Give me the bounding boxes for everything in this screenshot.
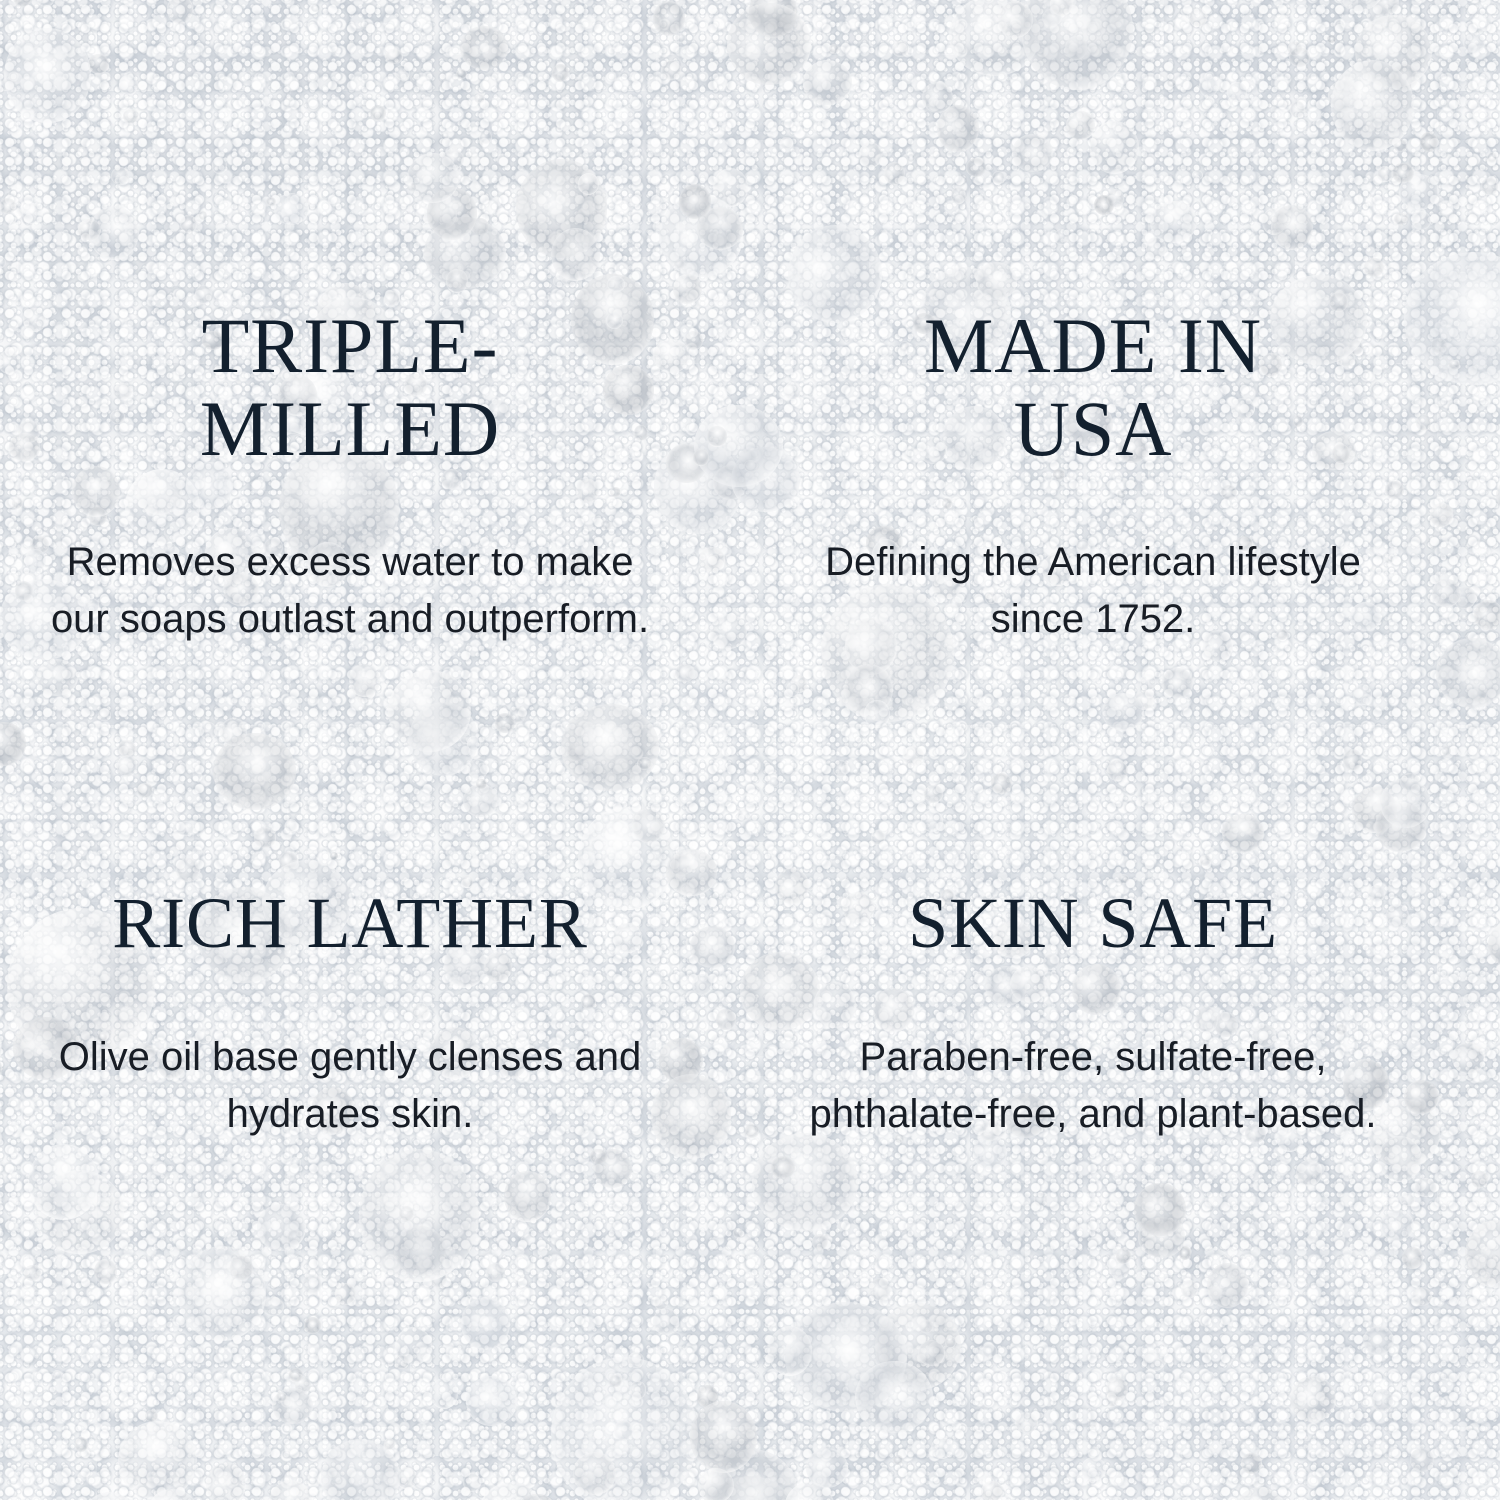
feature-heading-triple-milled: TRIPLE-MILLED: [135, 305, 565, 470]
feature-body-skin-safe: Paraben-free, sulfate-free, phthalate-fr…: [793, 1029, 1393, 1143]
feature-heading-made-in-usa: MADE IN USA: [883, 305, 1303, 470]
feature-heading-skin-safe: SKIN SAFE: [823, 885, 1363, 961]
benefits-infographic: TRIPLE-MILLED Removes excess water to ma…: [0, 0, 1500, 1500]
feature-heading-rich-lather: RICH LATHER: [0, 885, 700, 961]
feature-made-in-usa: MADE IN USA Defining the American lifest…: [772, 0, 1500, 750]
feature-body-rich-lather: Olive oil base gently clenses and hydrat…: [25, 1029, 675, 1143]
feature-body-made-in-usa: Defining the American lifestyle since 17…: [808, 534, 1378, 648]
feature-triple-milled: TRIPLE-MILLED Removes excess water to ma…: [0, 0, 772, 750]
feature-skin-safe: SKIN SAFE Paraben-free, sulfate-free, ph…: [772, 750, 1500, 1500]
feature-rich-lather: RICH LATHER Olive oil base gently clense…: [0, 750, 772, 1500]
features-grid: TRIPLE-MILLED Removes excess water to ma…: [0, 0, 1500, 1500]
feature-body-triple-milled: Removes excess water to make our soaps o…: [40, 534, 660, 648]
